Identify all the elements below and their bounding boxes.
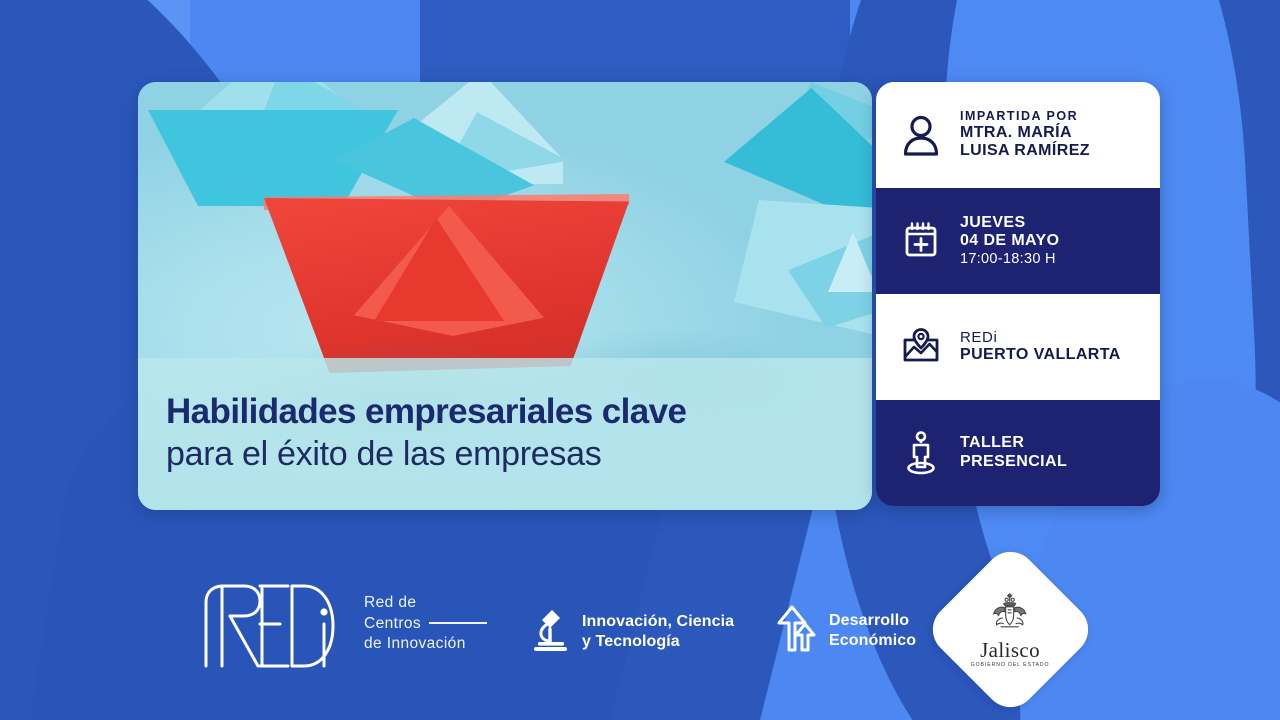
redi-tagline-line2: Centros [364, 615, 421, 632]
speaker-name-line1: MTRA. MARÍA [960, 124, 1090, 143]
location-org: REDi [960, 329, 1121, 347]
format-line2: PRESENCIAL [960, 453, 1067, 472]
ict-label-line1: Innovación, Ciencia [582, 612, 734, 632]
info-text-date: JUEVES 04 DE MAYO 17:00-18:30 H [960, 214, 1059, 269]
desarrollo-label-line2: Económico [829, 631, 916, 651]
desarrollo-label: Desarrollo Económico [829, 611, 916, 650]
info-row-speaker: IMPARTIDA POR MTRA. MARÍA LUISA RAMÍREZ [876, 82, 1160, 188]
event-flyer: Habilidades empresariales clave para el … [0, 0, 1280, 720]
info-text-format: TALLER PRESENCIAL [960, 434, 1067, 472]
info-text-location: REDi PUERTO VALLARTA [960, 329, 1121, 366]
info-row-date: JUEVES 04 DE MAYO 17:00-18:30 H [876, 188, 1160, 294]
innovacion-ciencia-tecnologia-logo: Innovación, Ciencia y Tecnología [530, 605, 734, 658]
desarrollo-economico-logo: Desarrollo Económico [775, 603, 916, 658]
speaker-name-line2: LUISA RAMÍREZ [960, 142, 1090, 161]
title-band: Habilidades empresariales clave para el … [138, 358, 872, 510]
redi-logo: Red de Centros de Innovación [200, 578, 487, 670]
location-city: PUERTO VALLARTA [960, 346, 1121, 365]
page-title: Habilidades empresariales clave [166, 393, 872, 431]
jalisco-subtitle: GOBIERNO DEL ESTADO [971, 661, 1050, 667]
person-icon [898, 112, 944, 158]
desarrollo-label-line1: Desarrollo [829, 611, 916, 631]
redi-tagline: Red de Centros de Innovación [364, 593, 487, 656]
info-text-speaker: IMPARTIDA POR MTRA. MARÍA LUISA RAMÍREZ [960, 109, 1090, 162]
jalisco-coat-of-arms-icon [983, 591, 1037, 638]
microscope-icon [530, 605, 570, 658]
ict-label-line2: y Tecnología [582, 632, 734, 652]
speaker-kicker: IMPARTIDA POR [960, 109, 1090, 124]
jalisco-wordmark: Jalisco [981, 639, 1041, 660]
redi-monogram-icon [200, 578, 350, 670]
redi-tagline-line3: de Innovación [364, 634, 487, 655]
redi-tagline-line1: Red de [364, 593, 487, 614]
event-info-card: IMPARTIDA POR MTRA. MARÍA LUISA RAMÍREZ … [876, 82, 1160, 506]
map-pin-icon [898, 324, 944, 370]
date-day: JUEVES [960, 214, 1059, 233]
footer-logo-bar: Red de Centros de Innovación Innovación,… [0, 535, 1280, 720]
format-line1: TALLER [960, 434, 1067, 453]
up-arrows-icon [775, 603, 817, 658]
info-row-location: REDi PUERTO VALLARTA [876, 294, 1160, 400]
page-subtitle: para el éxito de las empresas [166, 433, 872, 476]
jalisco-logo-content: Jalisco GOBIERNO DEL ESTADO [971, 591, 1050, 667]
info-row-format: TALLER PRESENCIAL [876, 400, 1160, 506]
redi-tagline-rule [429, 622, 487, 624]
date-full: 04 DE MAYO [960, 232, 1059, 251]
ict-label: Innovación, Ciencia y Tecnología [582, 612, 734, 651]
presenter-icon [898, 430, 944, 476]
date-time: 17:00-18:30 H [960, 251, 1059, 268]
calendar-icon [898, 218, 944, 264]
jalisco-government-logo: Jalisco GOBIERNO DEL ESTADO [922, 541, 1099, 718]
hero-photo-card: Habilidades empresariales clave para el … [138, 82, 872, 510]
